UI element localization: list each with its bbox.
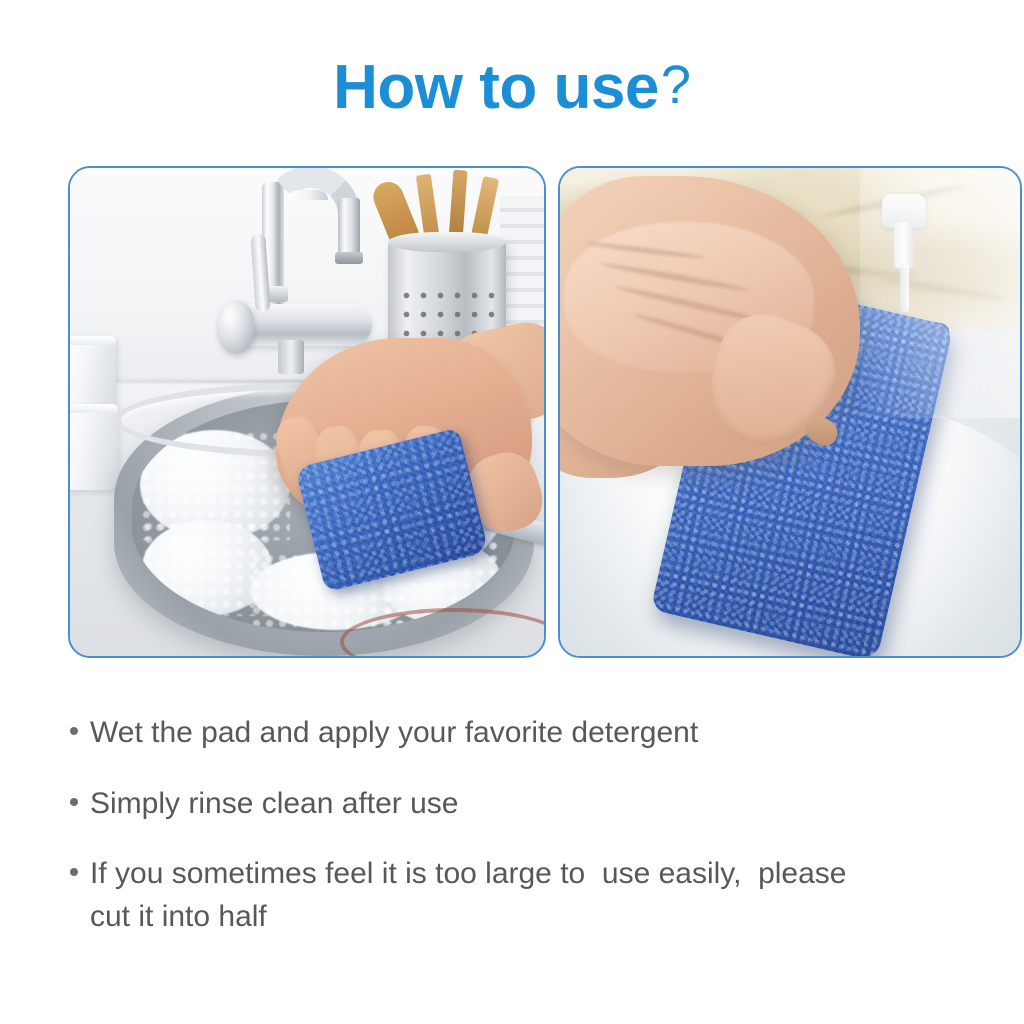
- cup-rim: [70, 404, 118, 413]
- rinsing-pad-scene: [560, 168, 1020, 656]
- kitchen-sink-scene: [70, 168, 544, 656]
- white-cup-lower: [70, 404, 118, 490]
- photo-panel-left: [68, 166, 546, 658]
- utensil-holder-rim: [388, 232, 506, 252]
- instruction-text: If you sometimes feel it is too large to…: [90, 853, 846, 938]
- page-title-text: How to use: [333, 52, 659, 123]
- white-cup-upper: [70, 336, 116, 412]
- list-item: If you sometimes feel it is too large to…: [70, 853, 1010, 938]
- faucet-spout-outlet: [338, 198, 360, 258]
- photo-left-inner: [70, 168, 544, 656]
- page-title: How to use?: [0, 52, 1024, 123]
- photo-right-inner: [560, 168, 1020, 656]
- cup-rim: [70, 336, 116, 345]
- bullet-dot-icon: [70, 868, 78, 876]
- instruction-list: Wet the pad and apply your favorite dete…: [70, 712, 1010, 938]
- faucet-base-stem: [278, 340, 304, 374]
- bullet-dot-icon: [70, 798, 78, 806]
- instruction-text: Wet the pad and apply your favorite dete…: [90, 712, 698, 755]
- bullet-dot-icon: [70, 727, 78, 735]
- instruction-text: Simply rinse clean after use: [90, 783, 459, 826]
- faucet-aerator: [335, 252, 363, 264]
- dish-rack: [500, 196, 544, 328]
- tap-fixture-stem: [900, 264, 909, 312]
- tap-fixture-neck: [894, 222, 914, 268]
- photo-panel-right: [558, 166, 1022, 658]
- list-item: Wet the pad and apply your favorite dete…: [70, 712, 1010, 755]
- page-title-question-mark: ?: [661, 54, 691, 116]
- list-item: Simply rinse clean after use: [70, 783, 1010, 826]
- faucet-knob: [218, 300, 254, 354]
